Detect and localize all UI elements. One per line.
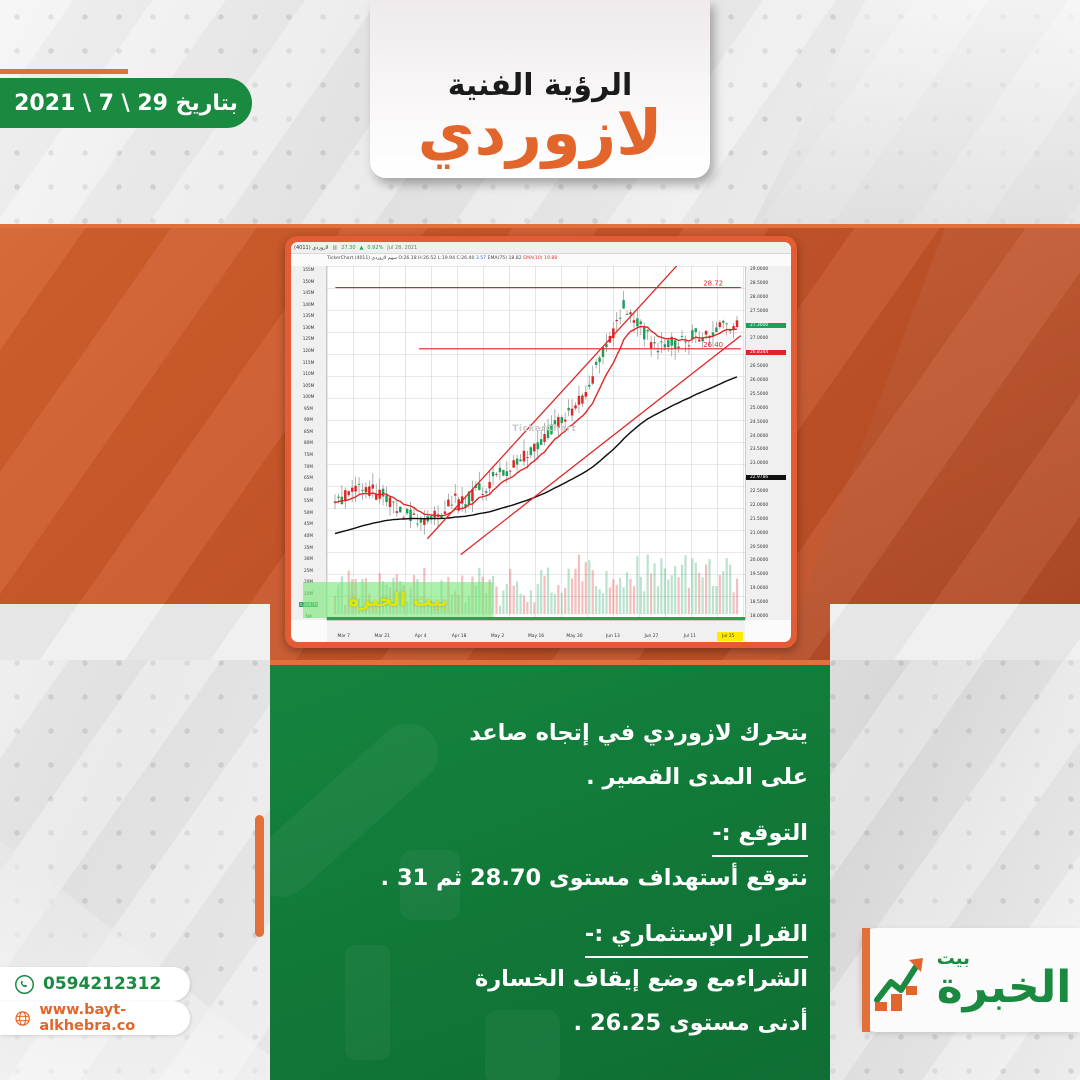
chart-band-shape xyxy=(780,228,1080,660)
price-tick: 23.0000 xyxy=(746,461,768,466)
date-tick: May 2 xyxy=(491,634,504,639)
price-tick: 26.0000 xyxy=(746,378,768,383)
chart-toolbar[interactable]: لازوردي (4011) ▥ 27.30 ▲ 0.92% Jul 28, 2… xyxy=(291,242,791,254)
price-tick: 23.5000 xyxy=(746,447,768,452)
date-tick: Apr 18 xyxy=(452,634,467,639)
forecast-text: نتوقع أستهداف مستوى 28.70 ثم 31 . xyxy=(298,857,808,901)
price-tick: 26.5000 xyxy=(746,364,768,369)
price-tick: 22.5000 xyxy=(746,489,768,494)
chart-band-notch-right xyxy=(830,604,1080,660)
decision-text-1: الشراءمع وضع إيقاف الخسارة xyxy=(298,958,808,1002)
volume-tick: 115M xyxy=(303,360,315,365)
ohlc-high: H:26.52 xyxy=(418,256,436,261)
whatsapp-icon xyxy=(14,974,35,995)
footer-orange-bar xyxy=(255,815,264,937)
volume-tick: 45M xyxy=(304,521,313,526)
analysis-line-1: يتحرك لازوردي في إتجاه صاعد xyxy=(298,712,808,756)
price-tick: 24.5000 xyxy=(746,420,768,425)
price-tick: 20.5000 xyxy=(746,545,768,550)
date-badge: بتاريخ 29 \ 7 \ 2021 xyxy=(0,78,252,128)
ohlc-open: O:26.18 xyxy=(398,256,416,261)
price-tick: 28.5000 xyxy=(746,281,768,286)
price-tick: 19.0000 xyxy=(746,586,768,591)
volume-tick: 100M xyxy=(303,394,315,399)
price-tick: 20.0000 xyxy=(746,558,768,563)
ema75-label: EMA(75) xyxy=(488,256,507,261)
decision-heading: القرار الإستثماري :- xyxy=(585,915,808,958)
chart-window[interactable]: لازوردي (4011) ▥ 27.30 ▲ 0.92% Jul 28, 2… xyxy=(291,242,791,642)
growth-arrow-icon xyxy=(871,948,933,1012)
volume-tick: 35M xyxy=(304,545,313,550)
date-tick: May 16 xyxy=(528,634,544,639)
price-tick: 27.5000 xyxy=(746,309,768,314)
price-tick: 29.0000 xyxy=(746,267,768,272)
ema75-value: 18.82 xyxy=(508,256,521,261)
date-tick: Jul 25 xyxy=(722,634,734,639)
forecast-heading: التوقع :- xyxy=(712,814,808,857)
orange-rule xyxy=(0,69,128,74)
ema-price-marker: 26.8344 xyxy=(746,350,786,355)
volume-tick: 140M xyxy=(303,302,315,307)
candle-icon: ▥ xyxy=(332,245,337,251)
chart-plot-area[interactable]: 28.7226.40 TickerChart xyxy=(327,266,745,620)
volume-tick: 85M xyxy=(304,429,313,434)
volume-tick: 90M xyxy=(304,417,313,422)
volume-tick: 25M xyxy=(304,568,313,573)
price-tick: 21.5000 xyxy=(746,517,768,522)
logo-accent-bar xyxy=(862,928,870,1032)
contact-phone[interactable]: 0594212312 xyxy=(0,967,190,1001)
date-tick: Jun 13 xyxy=(606,634,620,639)
volume-tick: 105M xyxy=(303,383,315,388)
chart-band-notch-left xyxy=(0,604,270,660)
chart-frame: لازوردي (4011) ▥ 27.30 ▲ 0.92% Jul 28, 2… xyxy=(285,236,797,648)
volume-axis: 155M150M145M140M135M130M125M120M115M110M… xyxy=(291,266,327,620)
volume-tick: 145M xyxy=(303,290,315,295)
volume-tick: 150M xyxy=(303,279,315,284)
ema10-label: EMA(10) xyxy=(523,256,542,261)
chart-symbol-label: لازوردي (4011) xyxy=(294,245,328,251)
date-tick: Mar 7 xyxy=(337,634,349,639)
title-card: الرؤية الفنية لازوردي xyxy=(370,0,710,178)
ohlc-source: TickerChart xyxy=(327,256,353,261)
page-title: لازوردي xyxy=(418,101,663,164)
price-tick: 28.0000 xyxy=(746,295,768,300)
chart-change-pct: 0.92% xyxy=(367,245,383,251)
ema-long-marker: 22.9786 xyxy=(746,475,786,480)
brand-watermark: بيت الخبرة xyxy=(303,582,493,618)
volume-tick: 30M xyxy=(304,556,313,561)
date-axis: Mar 7Mar 21Apr 4Apr 18May 2May 16May 30J… xyxy=(327,620,745,642)
tickerchart-watermark: TickerChart xyxy=(512,424,576,434)
globe-icon xyxy=(14,1008,31,1029)
price-tick: 19.5000 xyxy=(746,572,768,577)
price-tick: 18.0000 xyxy=(746,614,768,619)
website-url: www.bayt-alkhebra.co xyxy=(39,1002,190,1034)
ohlc-change: 3.57 xyxy=(476,256,486,261)
forecast-heading-wrap: التوقع :- xyxy=(298,800,808,857)
header-band: بتاريخ 29 \ 7 \ 2021 الرؤية الفنية لازور… xyxy=(0,0,1080,228)
price-axis: 29.000028.500028.000027.500027.300027.00… xyxy=(745,266,791,620)
ohlc-close: C:26.40 xyxy=(456,256,474,261)
chart-date: Jul 28, 2021 xyxy=(387,245,417,251)
ema10-value: 19.88 xyxy=(544,256,557,261)
decision-heading-wrap: القرار الإستثماري :- xyxy=(298,901,808,958)
volume-tick: 125M xyxy=(303,336,315,341)
price-tick: 21.0000 xyxy=(746,531,768,536)
volume-tick: 155M xyxy=(303,267,315,272)
price-tick: 18.5000 xyxy=(746,600,768,605)
volume-tick: 40M xyxy=(304,533,313,538)
contact-website[interactable]: www.bayt-alkhebra.co xyxy=(0,1001,190,1035)
brand-logo[interactable]: بيت الخبرة xyxy=(862,928,1080,1032)
phone-number: 0594212312 xyxy=(43,974,161,994)
date-tick: May 30 xyxy=(566,634,582,639)
date-tick: Jul 11 xyxy=(684,634,696,639)
logo-wordmark: بيت الخبرة xyxy=(937,951,1072,1008)
volume-tick: 50M xyxy=(304,510,313,515)
chart-series: 28.7226.40 xyxy=(327,266,745,620)
analysis-panel: يتحرك لازوردي في إتجاه صاعد على المدى ال… xyxy=(270,660,830,1080)
volume-tick: 95M xyxy=(304,406,313,411)
chart-scrollbar[interactable] xyxy=(327,617,745,620)
chart-last-price: 27.30 xyxy=(341,245,355,251)
analysis-body: يتحرك لازوردي في إتجاه صاعد على المدى ال… xyxy=(270,660,830,1046)
price-tick: 25.0000 xyxy=(746,406,768,411)
logo-word-big: الخبرة xyxy=(937,968,1072,1008)
ohlc-series: سهم لازوردي (4011) xyxy=(355,256,397,261)
decision-text-2: أدنى مستوى 26.25 . xyxy=(298,1002,808,1046)
volume-tick: 65M xyxy=(304,475,313,480)
ohlc-low: L:19.94 xyxy=(438,256,455,261)
volume-tick: 75M xyxy=(304,452,313,457)
last-price-marker: 27.3000 xyxy=(746,323,786,328)
volume-tick: 70M xyxy=(304,464,313,469)
price-tick: 25.5000 xyxy=(746,392,768,397)
volume-tick: 80M xyxy=(304,440,313,445)
volume-tick: 55M xyxy=(304,498,313,503)
analysis-line-2: على المدى القصير . xyxy=(298,756,808,800)
volume-tick: 120M xyxy=(303,348,315,353)
price-tick: 27.0000 xyxy=(746,336,768,341)
chart-annotation: 28.72 xyxy=(703,280,723,288)
date-tick: Apr 4 xyxy=(415,634,427,639)
price-tick: 24.0000 xyxy=(746,434,768,439)
volume-tick: 135M xyxy=(303,313,315,318)
change-arrow-icon: ▲ xyxy=(360,245,364,251)
date-tick: Mar 21 xyxy=(375,634,390,639)
volume-tick: 60M xyxy=(304,487,313,492)
price-tick: 22.0000 xyxy=(746,503,768,508)
volume-tick: 110M xyxy=(303,371,315,376)
chart-ohlc-legend: TickerChart سهم لازوردي (4011) O:26.18 H… xyxy=(327,256,557,261)
chart-annotation: 26.40 xyxy=(703,341,723,349)
volume-tick: 130M xyxy=(303,325,315,330)
date-tick: Jun 27 xyxy=(644,634,658,639)
